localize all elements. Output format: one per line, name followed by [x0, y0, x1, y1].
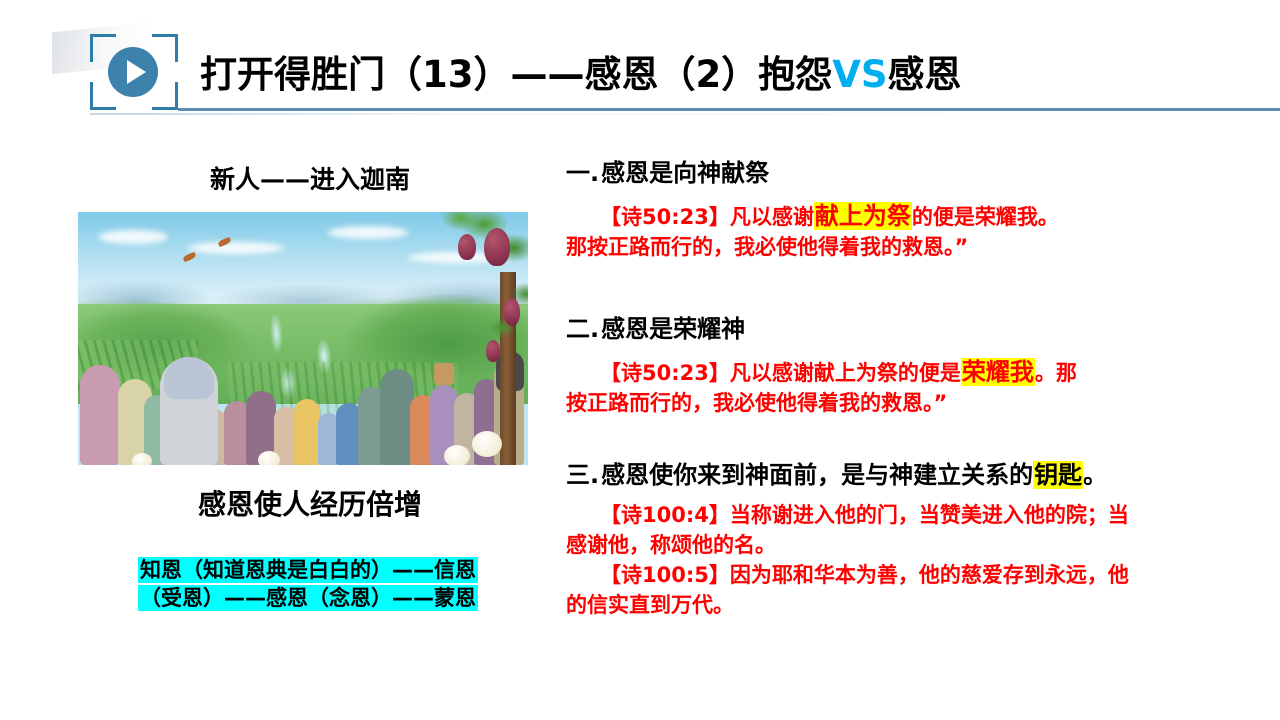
point-1-verse-highlight: 献上为祭 [814, 202, 912, 230]
point-2-text: 感恩是荣耀神 [601, 315, 745, 343]
point-1-verse-part-1: 凡以感谢 [730, 205, 814, 229]
bracket-top-left-h [90, 34, 116, 37]
lily-3 [258, 451, 280, 465]
cloud-2 [188, 242, 284, 254]
point-3-verse-1-ref: 【诗100:4】 [600, 503, 730, 527]
point-2-number: 二. [566, 315, 599, 343]
page-title-part-3: 感恩 [888, 53, 962, 96]
point-2-verse-part-1: 凡以感谢献上为祭的便是 [730, 361, 961, 385]
left-caption: 感恩使人经历倍增 [70, 483, 550, 523]
left-column: 新人——进入迦南 [70, 150, 550, 196]
figure-1 [80, 365, 120, 465]
play-triangle-icon [127, 60, 146, 84]
bracket-bottom-left-v [90, 82, 93, 110]
figure-10 [294, 399, 320, 465]
bracket-bottom-left-h [90, 107, 116, 110]
play-circle [108, 47, 158, 97]
left-heading: 新人——进入迦南 [70, 160, 550, 196]
point-2-verse: 【诗50:23】凡以感谢献上为祭的便是荣耀我。那按正路而行的，我必使他得着我的救… [566, 355, 1086, 419]
slide-header: 打开得胜门（13）——感恩（2）抱怨VS感恩 [0, 0, 1280, 130]
point-1-text: 感恩是向神献祭 [601, 159, 769, 187]
point-1-verse: 【诗50:23】凡以感谢献上为祭的便是荣耀我。那按正路而行的，我必使他得着我的救… [566, 199, 1066, 263]
grape-cluster-2 [458, 234, 476, 260]
figure-main-headscarf [164, 357, 214, 399]
point-2: 二.感恩是荣耀神 【诗50:23】凡以感谢献上为祭的便是荣耀我。那按正路而行的，… [566, 314, 1096, 419]
point-3-highlight: 钥匙 [1033, 461, 1083, 489]
grape-cluster-1 [484, 228, 510, 266]
point-1: 一.感恩是向神献祭 【诗50:23】凡以感谢献上为祭的便是荣耀我。那按正路而行的… [566, 158, 1086, 263]
grape-cluster-3 [504, 298, 520, 326]
point-3-verse-2-ref: 【诗100:5】 [600, 563, 730, 587]
play-button-icon[interactable] [90, 34, 178, 110]
canaan-illustration [78, 212, 528, 465]
title-divider-soft [90, 113, 1280, 115]
point-3: 三.感恩使你来到神面前，是与神建立关系的钥匙。 【诗100:4】当称谢进入他的门… [566, 460, 1226, 620]
highlight-box-line-1: 知恩（知道恩典是白白的）——信恩 [78, 556, 538, 584]
cloud-1 [98, 230, 168, 244]
page-title: 打开得胜门（13）——感恩（2）抱怨VS感恩 [200, 44, 962, 98]
point-3-title: 三.感恩使你来到神面前，是与神建立关系的钥匙。 [566, 460, 1226, 491]
lily-4 [132, 453, 152, 465]
lily-2 [444, 445, 470, 465]
point-3-period: 。 [1083, 461, 1107, 489]
point-3-verses: 【诗100:4】当称谢进入他的门，当赞美进入他的院；当感谢他，称颂他的名。 【诗… [566, 501, 1136, 620]
point-1-title: 一.感恩是向神献祭 [566, 158, 1086, 189]
grape-cluster-4 [486, 340, 500, 362]
highlight-box-line-2: （受恩）——感恩（念恩）——蒙恩 [78, 584, 538, 612]
point-2-verse-highlight: 荣耀我 [961, 358, 1035, 386]
page-title-part-1: 打开得胜门（13）——感恩（2）抱怨 [200, 53, 832, 96]
point-3-verse-2: 【诗100:5】因为耶和华本为善，他的慈爱存到永远，他的信实直到万代。 [566, 561, 1136, 621]
figure-14 [380, 369, 414, 465]
bracket-bottom-right-v [175, 82, 178, 110]
point-2-title: 二.感恩是荣耀神 [566, 314, 1096, 345]
point-3-text: 感恩使你来到神面前，是与神建立关系的 [601, 461, 1033, 489]
highlight-box: 知恩（知道恩典是白白的）——信恩 （受恩）——感恩（念恩）——蒙恩 [78, 556, 538, 612]
point-2-verse-ref: 【诗50:23】 [600, 361, 730, 385]
lily-1 [472, 431, 502, 457]
point-1-verse-ref: 【诗50:23】 [600, 205, 730, 229]
title-divider [178, 108, 1280, 111]
point-3-verse-1: 【诗100:4】当称谢进入他的门，当赞美进入他的院；当感谢他，称颂他的名。 [566, 501, 1136, 561]
basket [434, 363, 454, 385]
point-3-number: 三. [566, 461, 599, 489]
bracket-top-left-v [90, 34, 93, 62]
slide-canvas: 打开得胜门（13）——感恩（2）抱怨VS感恩 新人——进入迦南 [0, 0, 1280, 720]
bracket-top-right-v [175, 34, 178, 62]
point-1-number: 一. [566, 159, 599, 187]
page-title-vs: VS [832, 53, 887, 96]
